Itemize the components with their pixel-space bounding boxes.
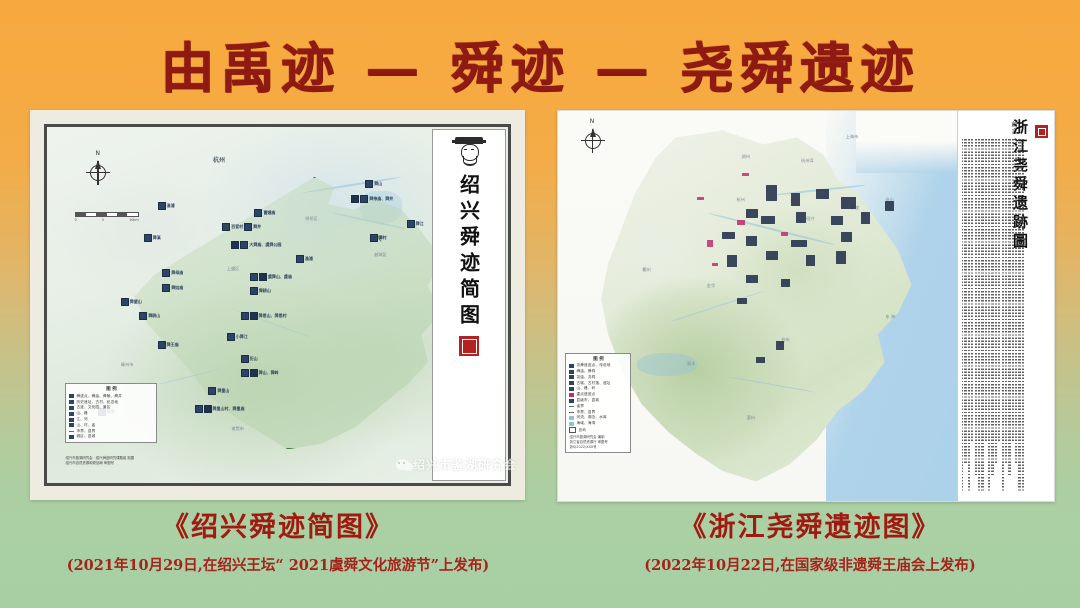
site-chip-icon bbox=[365, 180, 373, 188]
site-chip-icon bbox=[222, 223, 230, 231]
legend-label: 市界、县界 bbox=[576, 410, 595, 415]
marker-label: 小舜江 bbox=[236, 335, 248, 339]
place-label: 诸暨市 bbox=[231, 426, 244, 432]
legend-row: 海域、海湾 bbox=[569, 421, 627, 426]
map-marker[interactable]: 舜耕山 bbox=[250, 287, 271, 295]
site-chip-icon bbox=[69, 394, 74, 398]
site-chip-icon bbox=[144, 234, 152, 242]
legend-label: 城区、县城 bbox=[76, 434, 95, 439]
legend-row: 尧舜遗迹点、传说地 bbox=[569, 363, 627, 368]
boundary-line-icon bbox=[69, 431, 74, 432]
map-marker[interactable]: 舜望山 bbox=[121, 298, 142, 306]
pink-chip-icon bbox=[569, 393, 574, 397]
site-chip-icon bbox=[158, 202, 166, 210]
legend-label: 尧舜遗迹点、传说地 bbox=[576, 363, 610, 368]
legend-row: 河流、湖泊、水库 bbox=[569, 415, 627, 420]
marker-label: 大舜庙、虞舜公园 bbox=[249, 243, 281, 247]
map-marker[interactable]: 舜姑庙 bbox=[162, 284, 183, 292]
shaoxing-map-canvas[interactable]: N 0 5 10km 杭州 绍兴 bbox=[47, 127, 508, 483]
legend-label: 山、峰 bbox=[76, 411, 87, 416]
site-chip-icon bbox=[241, 369, 249, 377]
legend-row: 县级市、县城 bbox=[569, 398, 627, 403]
map-marker[interactable]: 历山 bbox=[241, 355, 258, 363]
left-caption-title: 《绍兴舜迹简图》 bbox=[20, 505, 536, 544]
preface-text-block bbox=[962, 139, 1024, 491]
place-label: 杭州湾 bbox=[801, 158, 814, 164]
place-label: 衢州 bbox=[642, 267, 650, 273]
site-chip-icon bbox=[69, 418, 74, 422]
map-marker[interactable]: 舜村 bbox=[370, 234, 387, 242]
legend-credit: 绍兴市鉴湖研究会 编制 浙江省自然资源厅 审图号 浙S(2022)XXX号 bbox=[569, 435, 627, 450]
site-chip-icon bbox=[569, 370, 574, 374]
marker-label: 舜山、舜岭 bbox=[259, 371, 279, 375]
site-chip-icon bbox=[69, 406, 74, 410]
marker-label: 舜耕山 bbox=[148, 314, 160, 318]
site-chip-icon bbox=[227, 333, 235, 341]
marker-label: 舜皇山 bbox=[217, 389, 229, 393]
compass-north-label: N bbox=[590, 118, 595, 125]
boundary-line-icon bbox=[569, 406, 574, 407]
site-chip-icon bbox=[139, 312, 147, 320]
map-marker[interactable]: 曹娥庙 bbox=[254, 209, 275, 217]
legend-label: 县级市、县城 bbox=[576, 398, 599, 403]
captions-row: 《绍兴舜迹简图》 (2021年10月29日,在绍兴王坛“ 2021虞舜文化旅游节… bbox=[0, 505, 1080, 608]
legend-label: 河流、湖泊、水库 bbox=[576, 415, 606, 420]
site-chip-icon bbox=[244, 223, 252, 231]
wechat-logo-icon bbox=[396, 459, 409, 470]
legend-title: 图 例 bbox=[569, 356, 627, 362]
site-chip-icon bbox=[569, 381, 574, 385]
marker-label: 舜望山 bbox=[130, 300, 142, 304]
map-marker[interactable]: 大舜庙、虞舜公园 bbox=[231, 241, 281, 249]
marker-label: 舜思山、舜思村 bbox=[259, 314, 287, 318]
map-marker[interactable]: 舜皇山村、舜皇庙 bbox=[195, 405, 245, 413]
site-chip-icon bbox=[121, 298, 129, 306]
legend-label: 海域、海湾 bbox=[576, 421, 595, 426]
site-chip-icon bbox=[296, 255, 304, 263]
site-chip-icon bbox=[231, 241, 239, 249]
marker-label: 渔浦 bbox=[305, 257, 313, 261]
watermark-text: 绍兴市鉴湖研究会 bbox=[413, 456, 517, 473]
marker-label: 虞舜山、虞庙 bbox=[268, 275, 292, 279]
marker-label: 舜溪 bbox=[153, 236, 161, 240]
site-chip-icon bbox=[360, 195, 368, 203]
red-seal-icon bbox=[459, 336, 479, 356]
site-chip-icon bbox=[162, 269, 170, 277]
preface-label: 前言 bbox=[1009, 121, 1018, 135]
site-chip-icon bbox=[254, 209, 262, 217]
right-caption: 《浙江尧舜遗迹图》 (2022年10月22日,在国家级非遗舜王庙会上发布) bbox=[552, 505, 1068, 575]
map-legend: 图 例 舜迹点、舜庙、舜陵、舜井 历史遗址、古村、纪念地 古迹、文化园、景区 山… bbox=[65, 383, 157, 443]
map-marker[interactable]: 小舜江 bbox=[227, 333, 248, 341]
map-marker[interactable]: 舜耕山 bbox=[139, 312, 160, 320]
site-chip-icon bbox=[250, 273, 258, 281]
legend-row: 尧庙、尧祠 bbox=[569, 375, 627, 380]
site-chip-icon bbox=[158, 341, 166, 349]
site-chip-icon bbox=[351, 195, 359, 203]
site-chip-icon bbox=[569, 364, 574, 368]
place-label: 温州 bbox=[746, 415, 754, 421]
map-marker[interactable]: 舜思山、舜思村 bbox=[241, 312, 287, 320]
map-marker[interactable]: 渔浦 bbox=[296, 255, 313, 263]
scale-bar: 0 5 10km bbox=[75, 212, 139, 222]
legend-row: 省界 bbox=[569, 404, 627, 409]
site-chip-icon bbox=[569, 375, 574, 379]
marker-label: 舜山 bbox=[374, 182, 382, 186]
map-marker[interactable]: 虞舜山、虞庙 bbox=[250, 273, 292, 281]
legend-label: 历史遗址、古村、纪念地 bbox=[76, 400, 118, 405]
marker-label: 舜耕山 bbox=[259, 289, 271, 293]
map-marker[interactable]: 舜江 bbox=[407, 220, 424, 228]
place-label: 嵊州市 bbox=[121, 362, 134, 368]
scale-right-label: 10km bbox=[129, 218, 139, 222]
legend-row: 山、峰、岭 bbox=[569, 386, 627, 391]
map-marker[interactable]: 舜皇山 bbox=[208, 387, 229, 395]
place-label: 杭州 bbox=[213, 155, 225, 164]
legend-row: 城区、县城 bbox=[69, 434, 153, 439]
site-chip-icon bbox=[208, 387, 216, 395]
left-map-poster[interactable]: N 0 5 10km 杭州 绍兴 bbox=[30, 110, 525, 500]
legend-row: 江、河 bbox=[69, 417, 153, 422]
site-chip-icon bbox=[250, 287, 258, 295]
scale-left-label: 0 bbox=[75, 218, 77, 222]
compass-north-label: N bbox=[95, 150, 100, 157]
shun-portrait-icon bbox=[452, 134, 486, 166]
marker-label: 舜帝庙、舜井 bbox=[369, 197, 393, 201]
marker-label: 渔浦 bbox=[167, 204, 175, 208]
marker-label: 舜江 bbox=[416, 222, 424, 226]
compass-icon: N bbox=[88, 163, 108, 183]
boundary-line-icon bbox=[569, 412, 574, 413]
legend-row: 岛屿 bbox=[569, 427, 627, 433]
left-caption: 《绍兴舜迹简图》 (2021年10月29日,在绍兴王坛“ 2021虞舜文化旅游节… bbox=[20, 505, 536, 575]
map-marker[interactable]: 舜帝庙、舜井 bbox=[351, 195, 393, 203]
site-chip-icon bbox=[259, 273, 267, 281]
place-label: 柯桥区 bbox=[305, 216, 318, 222]
legend-label: 山、村、庙 bbox=[76, 423, 95, 428]
site-chip-icon bbox=[250, 312, 258, 320]
credit-line-3: 浙S(2022)XXX号 bbox=[569, 445, 627, 450]
red-seal-icon bbox=[1035, 125, 1048, 138]
site-chip-icon bbox=[241, 355, 249, 363]
site-chip-icon bbox=[569, 399, 574, 403]
legend-label: 省界 bbox=[576, 404, 584, 409]
site-chip-icon bbox=[204, 405, 212, 413]
place-label: 杭州 bbox=[737, 197, 745, 203]
place-label: 东 海 bbox=[885, 314, 895, 320]
site-chip-icon bbox=[370, 234, 378, 242]
marker-label: 舜王庙 bbox=[167, 343, 179, 347]
right-map-poster[interactable]: N 上海市 杭州湾 东 海 杭州 绍兴 宁波 舟山 金华 衢州 丽水 台州 bbox=[557, 110, 1055, 502]
place-label: 绍兴 bbox=[806, 216, 814, 222]
legend-credit: 绍兴市鉴湖研究会 · 绍兴舜迹研究课题组 制图 绍兴市自然资源和规划局 审图号 bbox=[65, 456, 175, 466]
legend-label: 江、河 bbox=[76, 417, 87, 422]
marker-label: 舜村 bbox=[379, 236, 387, 240]
panels-container: N 0 5 10km 杭州 绍兴 bbox=[0, 110, 1080, 505]
legend-row: 重点遗迹点 bbox=[569, 392, 627, 397]
compass-icon: N bbox=[583, 131, 603, 151]
left-caption-subtitle: (2021年10月29日,在绍兴王坛“ 2021虞舜文化旅游节”上发布) bbox=[20, 554, 536, 575]
cartouche-title: 绍兴舜迹简图 bbox=[455, 174, 484, 330]
legend-label: 山、峰、岭 bbox=[576, 386, 595, 391]
credit-line-2: 绍兴市自然资源和规划局 审图号 bbox=[65, 461, 175, 466]
legend-row: 舜庙、舜祠 bbox=[569, 369, 627, 374]
place-label: 越城区 bbox=[374, 252, 387, 258]
page-title: 由禹迹 — 舜迹 — 尧舜遗迹 bbox=[160, 24, 919, 103]
legend-row: 市界、县界 bbox=[569, 410, 627, 415]
legend-label: 岛屿 bbox=[578, 428, 586, 433]
site-chip-icon bbox=[407, 220, 415, 228]
map-title-cartouche: 浙江尧舜遗跡圖 前言 bbox=[957, 111, 1054, 501]
hollow-chip-icon bbox=[569, 427, 576, 433]
site-chip-icon bbox=[69, 423, 74, 427]
right-caption-title: 《浙江尧舜遗迹图》 bbox=[552, 505, 1068, 544]
marker-label: 舜母庙 bbox=[171, 271, 183, 275]
marker-label: 舜皇山村、舜皇庙 bbox=[213, 407, 245, 411]
site-chip-icon bbox=[195, 405, 203, 413]
legend-row: 古城、古村落、遗址 bbox=[569, 381, 627, 386]
site-chip-icon bbox=[69, 400, 74, 404]
legend-label: 尧庙、尧祠 bbox=[576, 375, 595, 380]
legend-row: 山、村、庙 bbox=[69, 423, 153, 428]
legend-label: 重点遗迹点 bbox=[576, 392, 595, 397]
map-title-cartouche: 绍兴舜迹简图 bbox=[432, 129, 506, 481]
legend-row: 舜迹点、舜庙、舜陵、舜井 bbox=[69, 394, 153, 399]
map-marker[interactable]: 舜山、舜岭 bbox=[241, 369, 279, 377]
map-marker[interactable]: 百官村舜井 bbox=[222, 223, 261, 231]
legend-label: 舜迹点、舜庙、舜陵、舜井 bbox=[76, 394, 122, 399]
place-label: 上虞区 bbox=[227, 266, 240, 272]
site-chip-icon bbox=[69, 412, 74, 416]
site-chip-icon bbox=[569, 387, 574, 391]
map-marker[interactable]: 舜溪 bbox=[144, 234, 161, 242]
legend-label: 市界、县界 bbox=[76, 429, 95, 434]
map-marker[interactable]: 舜山 bbox=[365, 180, 382, 188]
marker-label: 曹娥庙 bbox=[263, 211, 275, 215]
marker-label: 舜井 bbox=[253, 225, 261, 229]
poster-frame: N 0 5 10km 杭州 绍兴 bbox=[44, 124, 511, 486]
river-line-icon bbox=[569, 422, 574, 426]
place-label: 湖州 bbox=[742, 154, 750, 160]
river-line-icon bbox=[569, 416, 574, 420]
place-label: 丽水 bbox=[687, 361, 695, 367]
legend-label: 舜庙、舜祠 bbox=[576, 369, 595, 374]
place-label: 金华 bbox=[707, 283, 715, 289]
legend-row: 历史遗址、古村、纪念地 bbox=[69, 400, 153, 405]
legend-label: 古城、古村落、遗址 bbox=[576, 381, 610, 386]
map-marker[interactable]: 舜王庙 bbox=[158, 341, 179, 349]
map-legend: 图 例 尧舜遗迹点、传说地 舜庙、舜祠 尧庙、尧祠 古城、古村落、遗址 山、峰、… bbox=[565, 353, 631, 453]
poster-frame: N 上海市 杭州湾 东 海 杭州 绍兴 宁波 舟山 金华 衢州 丽水 台州 bbox=[557, 110, 1055, 502]
legend-row: 市界、县界 bbox=[69, 429, 153, 434]
place-label: 上海市 bbox=[846, 134, 859, 140]
legend-title: 图 例 bbox=[69, 386, 153, 392]
site-chip-icon bbox=[240, 241, 248, 249]
site-chip-icon bbox=[162, 284, 170, 292]
slide-title-bar: 由禹迹 — 舜迹 — 尧舜遗迹 bbox=[0, 28, 1080, 98]
site-chip-icon bbox=[250, 369, 258, 377]
map-marker[interactable]: 舜母庙 bbox=[162, 269, 183, 277]
site-chip-icon bbox=[69, 435, 74, 439]
map-marker[interactable]: 渔浦 bbox=[158, 202, 175, 210]
legend-row: 山、峰 bbox=[69, 411, 153, 416]
slide-root: 由禹迹 — 舜迹 — 尧舜遗迹 bbox=[0, 0, 1080, 608]
legend-label: 古迹、文化园、景区 bbox=[76, 405, 110, 410]
marker-label: 百官村 bbox=[231, 225, 243, 229]
marker-label: 历山 bbox=[250, 357, 258, 361]
wechat-watermark: 绍兴市鉴湖研究会 bbox=[396, 456, 517, 473]
site-chip-icon bbox=[241, 312, 249, 320]
legend-row: 古迹、文化园、景区 bbox=[69, 405, 153, 410]
right-caption-subtitle: (2022年10月22日,在国家级非遗舜王庙会上发布) bbox=[552, 554, 1068, 575]
scale-mid-label: 5 bbox=[102, 218, 104, 222]
marker-label: 舜姑庙 bbox=[171, 286, 183, 290]
zhejiang-map-canvas[interactable]: N 上海市 杭州湾 东 海 杭州 绍兴 宁波 舟山 金华 衢州 丽水 台州 bbox=[558, 111, 1054, 501]
